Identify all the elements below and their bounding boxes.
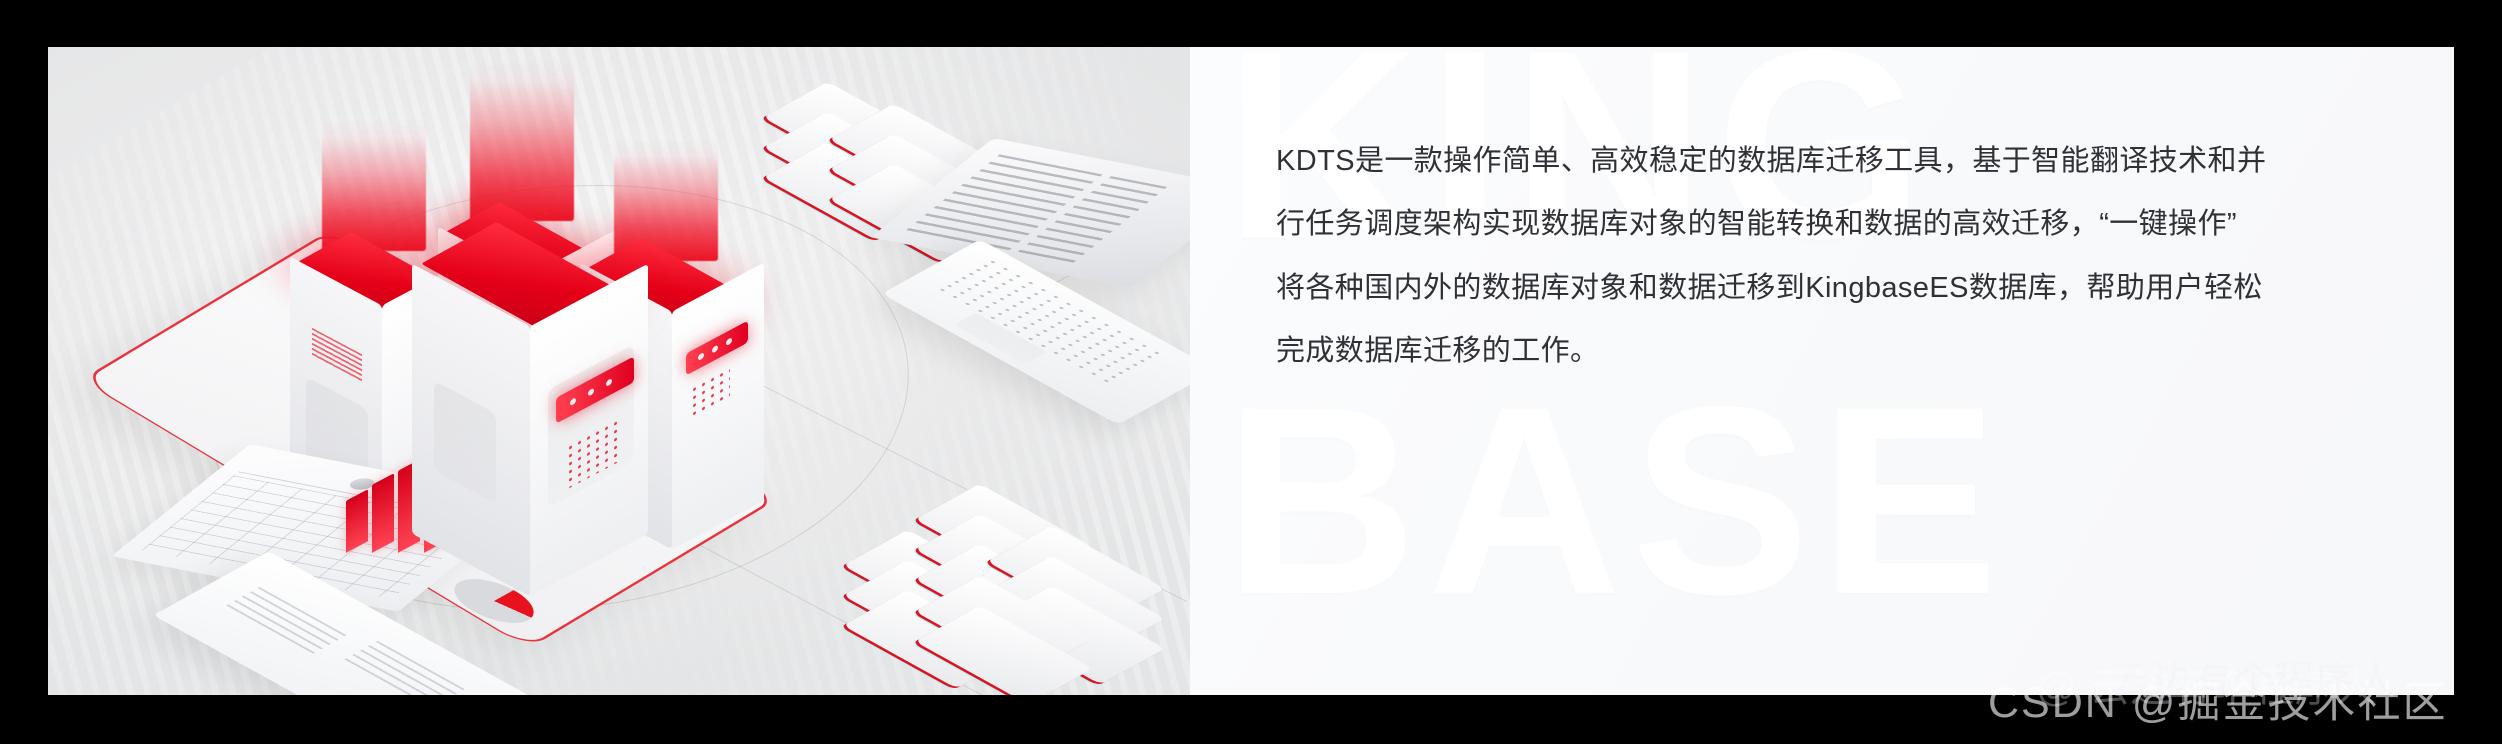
led-dot bbox=[588, 388, 594, 397]
illustration-panel bbox=[48, 47, 1190, 695]
report-text-lines bbox=[338, 641, 464, 695]
led-dot bbox=[698, 352, 704, 361]
light-beam-icon bbox=[322, 119, 426, 251]
screenshot-stage: KING BASE KDTS是一款操作简单、高效稳定的数据库迁移工具，基于智能翻… bbox=[0, 0, 2502, 744]
led-dot bbox=[606, 378, 612, 387]
led-dot bbox=[570, 397, 576, 406]
description-panel: KING BASE KDTS是一款操作简单、高效稳定的数据库迁移工具，基于智能翻… bbox=[1190, 47, 2454, 695]
description-line-3: 将各种国内外的数据库对象和数据迁移到KingbaseES数据库，帮助用户轻松 bbox=[1276, 272, 2404, 305]
light-beam-icon bbox=[470, 59, 574, 221]
bar-chart-bar bbox=[372, 473, 394, 553]
description-line-1: KDTS是一款操作简单、高效稳定的数据库迁移工具，基于智能翻译技术和并 bbox=[1276, 145, 2404, 178]
product-banner: KING BASE KDTS是一款操作简单、高效稳定的数据库迁移工具，基于智能翻… bbox=[48, 47, 2454, 695]
description-line-2: 行任务调度架构实现数据库对象的智能转换和数据的高效迁移，“一键操作” bbox=[1276, 208, 2404, 241]
report-text-lines bbox=[220, 587, 346, 657]
description-copy: KDTS是一款操作简单、高效稳定的数据库迁移工具，基于智能翻译技术和并 行任务调… bbox=[1276, 145, 2404, 368]
description-line-4: 完成数据库迁移的工作。 bbox=[1276, 335, 2404, 368]
led-dot bbox=[726, 337, 732, 346]
light-beam-icon bbox=[614, 139, 718, 261]
ghost-brand-text-line2: BASE bbox=[1224, 377, 2009, 624]
led-dot bbox=[712, 344, 718, 353]
